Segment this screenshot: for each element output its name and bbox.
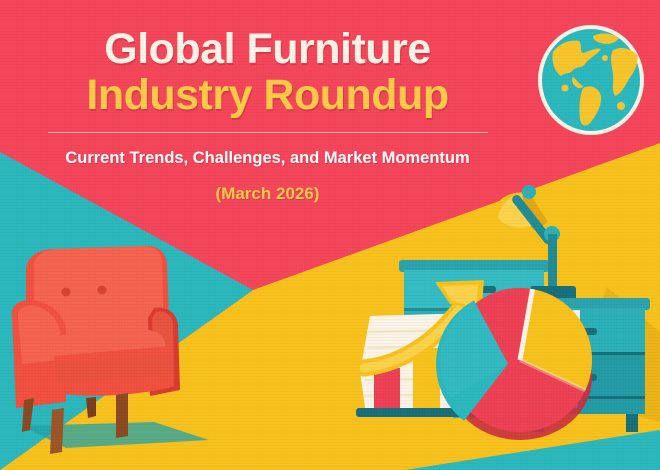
chair-leg [86, 397, 96, 418]
chair-leg [50, 408, 64, 454]
lamp-joint-top [522, 185, 536, 199]
poster-canvas: Global Furniture Industry Roundup Curren… [0, 0, 660, 470]
globe-icon [535, 22, 647, 138]
chair-button [62, 288, 71, 297]
chair-leg [116, 393, 128, 438]
armchair-illustration [4, 240, 216, 470]
chair-button [98, 286, 107, 295]
lamp-pole [548, 234, 557, 292]
chair-shadow [22, 422, 209, 448]
furniture-and-charts-illustration [352, 182, 660, 470]
